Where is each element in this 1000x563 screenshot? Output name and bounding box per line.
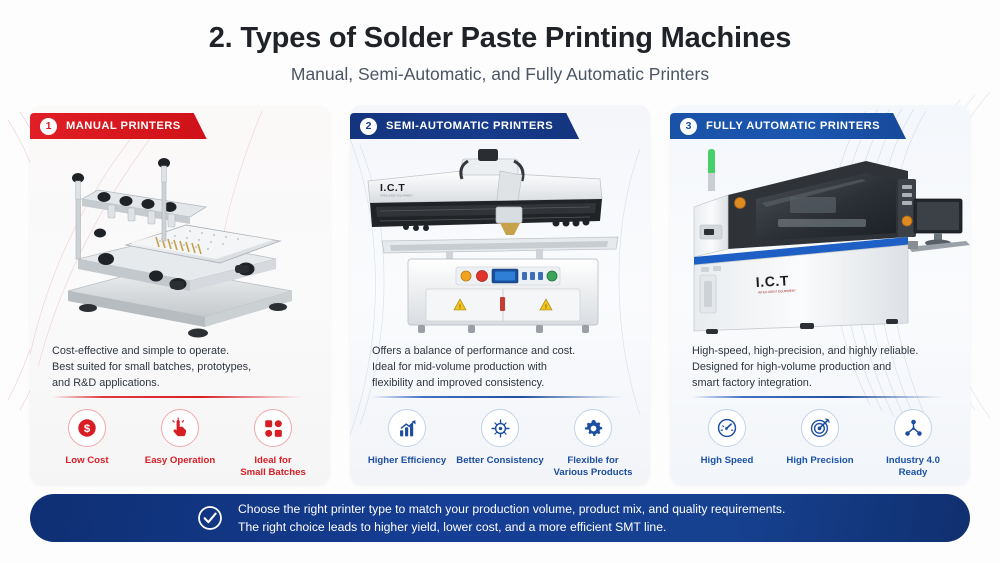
manual-stencil-printer-image (30, 141, 330, 341)
feature-label: Ideal for Small Batches (240, 455, 306, 480)
check-circle-icon (196, 504, 224, 532)
feature-high-speed[interactable]: High Speed (682, 409, 772, 480)
card-divider (52, 396, 302, 398)
feature-flexible-various-products[interactable]: Flexible for Various Products (548, 409, 638, 480)
body-line-1: Offers a balance of performance and cost… (372, 343, 630, 359)
grid-squares-icon (254, 409, 292, 447)
card-divider (372, 396, 622, 398)
semi-automatic-printer-image: I.C.T INTELLIGENT EQUIPMENT (350, 141, 650, 341)
bullseye-target-icon (801, 409, 839, 447)
body-line-3: flexibility and improved consistency. (372, 375, 630, 391)
page-subtitle: Manual, Semi-Automatic, and Fully Automa… (0, 64, 1000, 85)
hand-pointer-icon (161, 409, 199, 447)
card-number-badge: 3 (680, 118, 697, 135)
feature-label: High Precision (786, 455, 853, 467)
feature-ideal-small-batches[interactable]: Ideal for Small Batches (228, 409, 318, 480)
body-line-1: High-speed, high-precision, and highly r… (692, 343, 950, 359)
card-body-text: High-speed, high-precision, and highly r… (692, 343, 950, 391)
card-features: $ Low Cost Easy Operation (42, 409, 318, 480)
machine-brand-label: I.C.T (755, 272, 789, 290)
body-line-2: Designed for high-volume production and (692, 359, 950, 375)
feature-label: Low Cost (65, 455, 108, 467)
card-body-text: Cost-effective and simple to operate. Be… (52, 343, 310, 391)
feature-industry-40-ready[interactable]: Industry 4.0 Ready (868, 409, 958, 480)
card-banner-semi-automatic: 2 SEMI-AUTOMATIC PRINTERS (350, 113, 579, 139)
card-banner-fully-automatic: 3 FULLY AUTOMATIC PRINTERS (670, 113, 906, 139)
speedometer-icon (708, 409, 746, 447)
svg-text:INTELLIGENT EQUIPMENT: INTELLIGENT EQUIPMENT (380, 194, 413, 198)
body-line-3: and R&D applications. (52, 375, 310, 391)
card-body-text: Offers a balance of performance and cost… (372, 343, 630, 391)
card-divider (692, 396, 942, 398)
feature-label: High Speed (701, 455, 754, 467)
bar-chart-arrow-icon (388, 409, 426, 447)
fully-automatic-printer-image: I.C.T INTELLIGENT EQUIPMENT (670, 141, 970, 341)
card-title: SEMI-AUTOMATIC PRINTERS (386, 120, 553, 132)
page-title: 2. Types of Solder Paste Printing Machin… (0, 22, 1000, 55)
body-line-1: Cost-effective and simple to operate. (52, 343, 310, 359)
feature-easy-operation[interactable]: Easy Operation (135, 409, 225, 480)
feature-label: Better Consistency (456, 455, 543, 467)
feature-better-consistency[interactable]: Better Consistency (455, 409, 545, 480)
card-number-badge: 1 (40, 118, 57, 135)
bottom-line-2: The right choice leads to higher yield, … (238, 518, 785, 536)
bottom-summary-banner: Choose the right printer type to match y… (30, 494, 970, 542)
card-manual-printers[interactable]: 1 MANUAL PRINTERS (30, 105, 330, 485)
network-nodes-icon (894, 409, 932, 447)
machine-brand-label: I.C.T (380, 182, 405, 194)
card-semi-automatic-printers[interactable]: 2 SEMI-AUTOMATIC PRINTERS I.C.T INTELLIG… (350, 105, 650, 485)
crosshair-target-icon (481, 409, 519, 447)
gear-icon (574, 409, 612, 447)
feature-low-cost[interactable]: $ Low Cost (42, 409, 132, 480)
card-banner-manual: 1 MANUAL PRINTERS (30, 113, 207, 139)
feature-high-precision[interactable]: High Precision (775, 409, 865, 480)
body-line-2: Best suited for small batches, prototype… (52, 359, 310, 375)
feature-label: Industry 4.0 Ready (886, 455, 940, 480)
feature-label: Flexible for Various Products (554, 455, 633, 480)
card-fully-automatic-printers[interactable]: 3 FULLY AUTOMATIC PRINTERS (670, 105, 970, 485)
body-line-2: Ideal for mid-volume production with (372, 359, 630, 375)
card-title: MANUAL PRINTERS (66, 120, 181, 132)
bottom-banner-text: Choose the right printer type to match y… (238, 500, 785, 537)
dollar-sign-icon: $ (68, 409, 106, 447)
card-number-badge: 2 (360, 118, 377, 135)
card-features: Higher Efficiency Better Consistency (362, 409, 638, 480)
feature-higher-efficiency[interactable]: Higher Efficiency (362, 409, 452, 480)
feature-label: Easy Operation (145, 455, 215, 467)
body-line-3: smart factory integration. (692, 375, 950, 391)
page-header: 2. Types of Solder Paste Printing Machin… (0, 22, 1000, 85)
feature-label: Higher Efficiency (368, 455, 446, 467)
svg-text:$: $ (84, 423, 91, 435)
card-features: High Speed High Precision (682, 409, 958, 480)
printer-type-cards: 1 MANUAL PRINTERS (30, 105, 970, 485)
bottom-line-1: Choose the right printer type to match y… (238, 500, 785, 518)
infographic-page: 2. Types of Solder Paste Printing Machin… (0, 0, 1000, 563)
card-title: FULLY AUTOMATIC PRINTERS (706, 120, 880, 132)
